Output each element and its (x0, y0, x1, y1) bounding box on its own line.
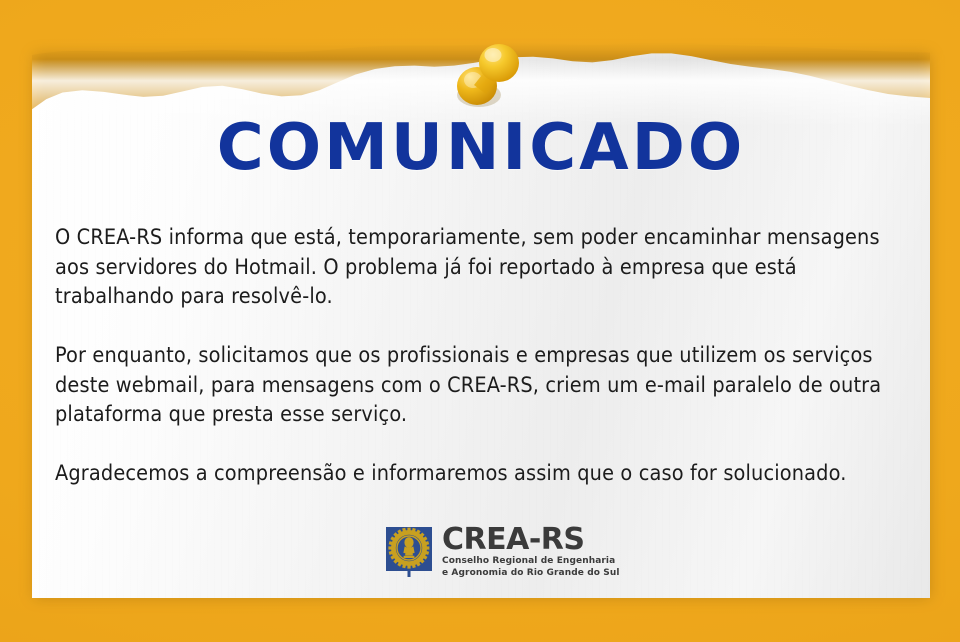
page-title: COMUNICADO (32, 116, 930, 180)
pushpin-icon (443, 33, 529, 119)
crea-rs-logotype: CREA-RS Conselho Regional de Engenharia … (442, 525, 620, 579)
paragraph-2: Por enquanto, solicitamos que os profiss… (55, 341, 911, 430)
crea-rs-wordmark: CREA-RS (442, 525, 620, 555)
crea-rs-subtitle-line1: Conselho Regional de Engenharia (442, 556, 620, 567)
announcement-body: O CREA-RS informa que está, temporariame… (55, 223, 911, 489)
paragraph-1: O CREA-RS informa que está, temporariame… (55, 223, 911, 312)
crea-rs-logo: CREA-RS Conselho Regional de Engenharia … (385, 525, 620, 579)
paragraph-3: Agradecemos a compreensão e informaremos… (55, 459, 911, 489)
crea-gear-bust-emblem-icon (385, 526, 433, 578)
crea-rs-subtitle-line2: e Agronomia do Rio Grande do Sul (442, 568, 620, 579)
comunicado-poster: COMUNICADO O CREA-RS informa que está, t… (0, 0, 960, 642)
poster-content: COMUNICADO O CREA-RS informa que está, t… (32, 40, 930, 598)
